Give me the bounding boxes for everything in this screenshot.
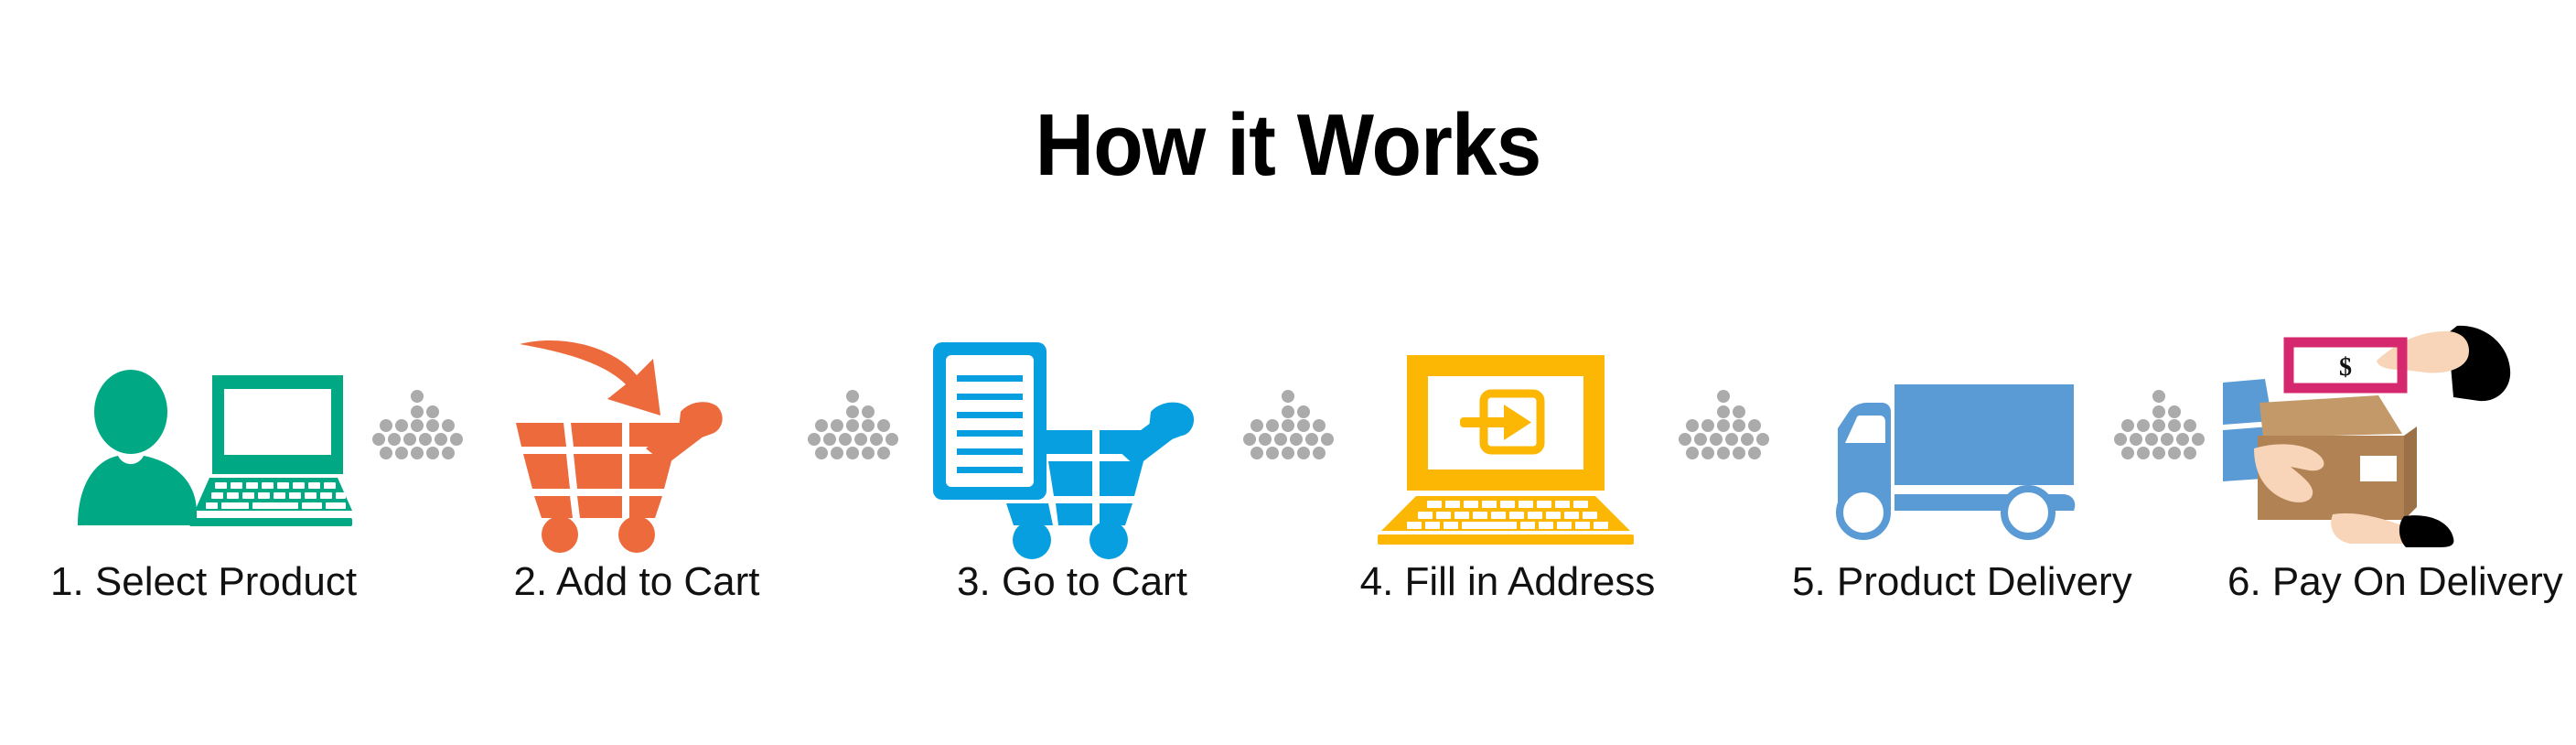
step-1-select-product[interactable] (50, 309, 352, 547)
step-1-label: 1. Select Product (50, 556, 352, 608)
step-2-label: 2. Add to Cart (486, 556, 788, 608)
step-5-label: 5. Product Delivery (1792, 556, 2094, 608)
connector-1 (364, 309, 474, 547)
connector-3 (1235, 309, 1345, 547)
hands-exchange-box-and-money-icon: $ (2223, 319, 2534, 547)
svg-text:$: $ (2339, 353, 2352, 382)
step-2-add-to-cart[interactable] (486, 309, 788, 547)
connector-2 (800, 309, 909, 547)
delivery-truck-icon (1792, 373, 2094, 547)
connector-4 (1670, 309, 1780, 547)
step-3-go-to-cart[interactable] (921, 309, 1223, 547)
step-labels: 1. Select Product 2. Add to Cart 3. Go t… (50, 556, 2529, 608)
dotted-arrow-right-icon (371, 389, 467, 468)
person-with-laptop-icon (50, 355, 352, 547)
dotted-arrow-right-icon (1242, 389, 1337, 468)
laptop-with-login-arrow-icon (1361, 346, 1654, 547)
steps-strip: $ (50, 309, 2529, 547)
document-with-cart-icon (926, 328, 1218, 547)
step-4-label: 4. Fill in Address (1357, 556, 1658, 608)
dotted-arrow-right-icon (1678, 389, 1773, 468)
step-4-fill-in-address[interactable] (1357, 309, 1658, 547)
dotted-arrow-right-icon (2113, 389, 2208, 468)
step-5-product-delivery[interactable] (1792, 309, 2094, 547)
step-3-label: 3. Go to Cart (921, 556, 1223, 608)
step-6-pay-on-delivery[interactable]: $ (2227, 309, 2529, 547)
connector-5 (2106, 309, 2216, 547)
shopping-cart-with-arrow-icon (499, 328, 774, 547)
dotted-arrow-right-icon (807, 389, 902, 468)
step-6-label: 6. Pay On Delivery (2227, 556, 2529, 608)
infographic-root: How it Works (0, 0, 2576, 745)
page-title: How it Works (91, 95, 2486, 196)
